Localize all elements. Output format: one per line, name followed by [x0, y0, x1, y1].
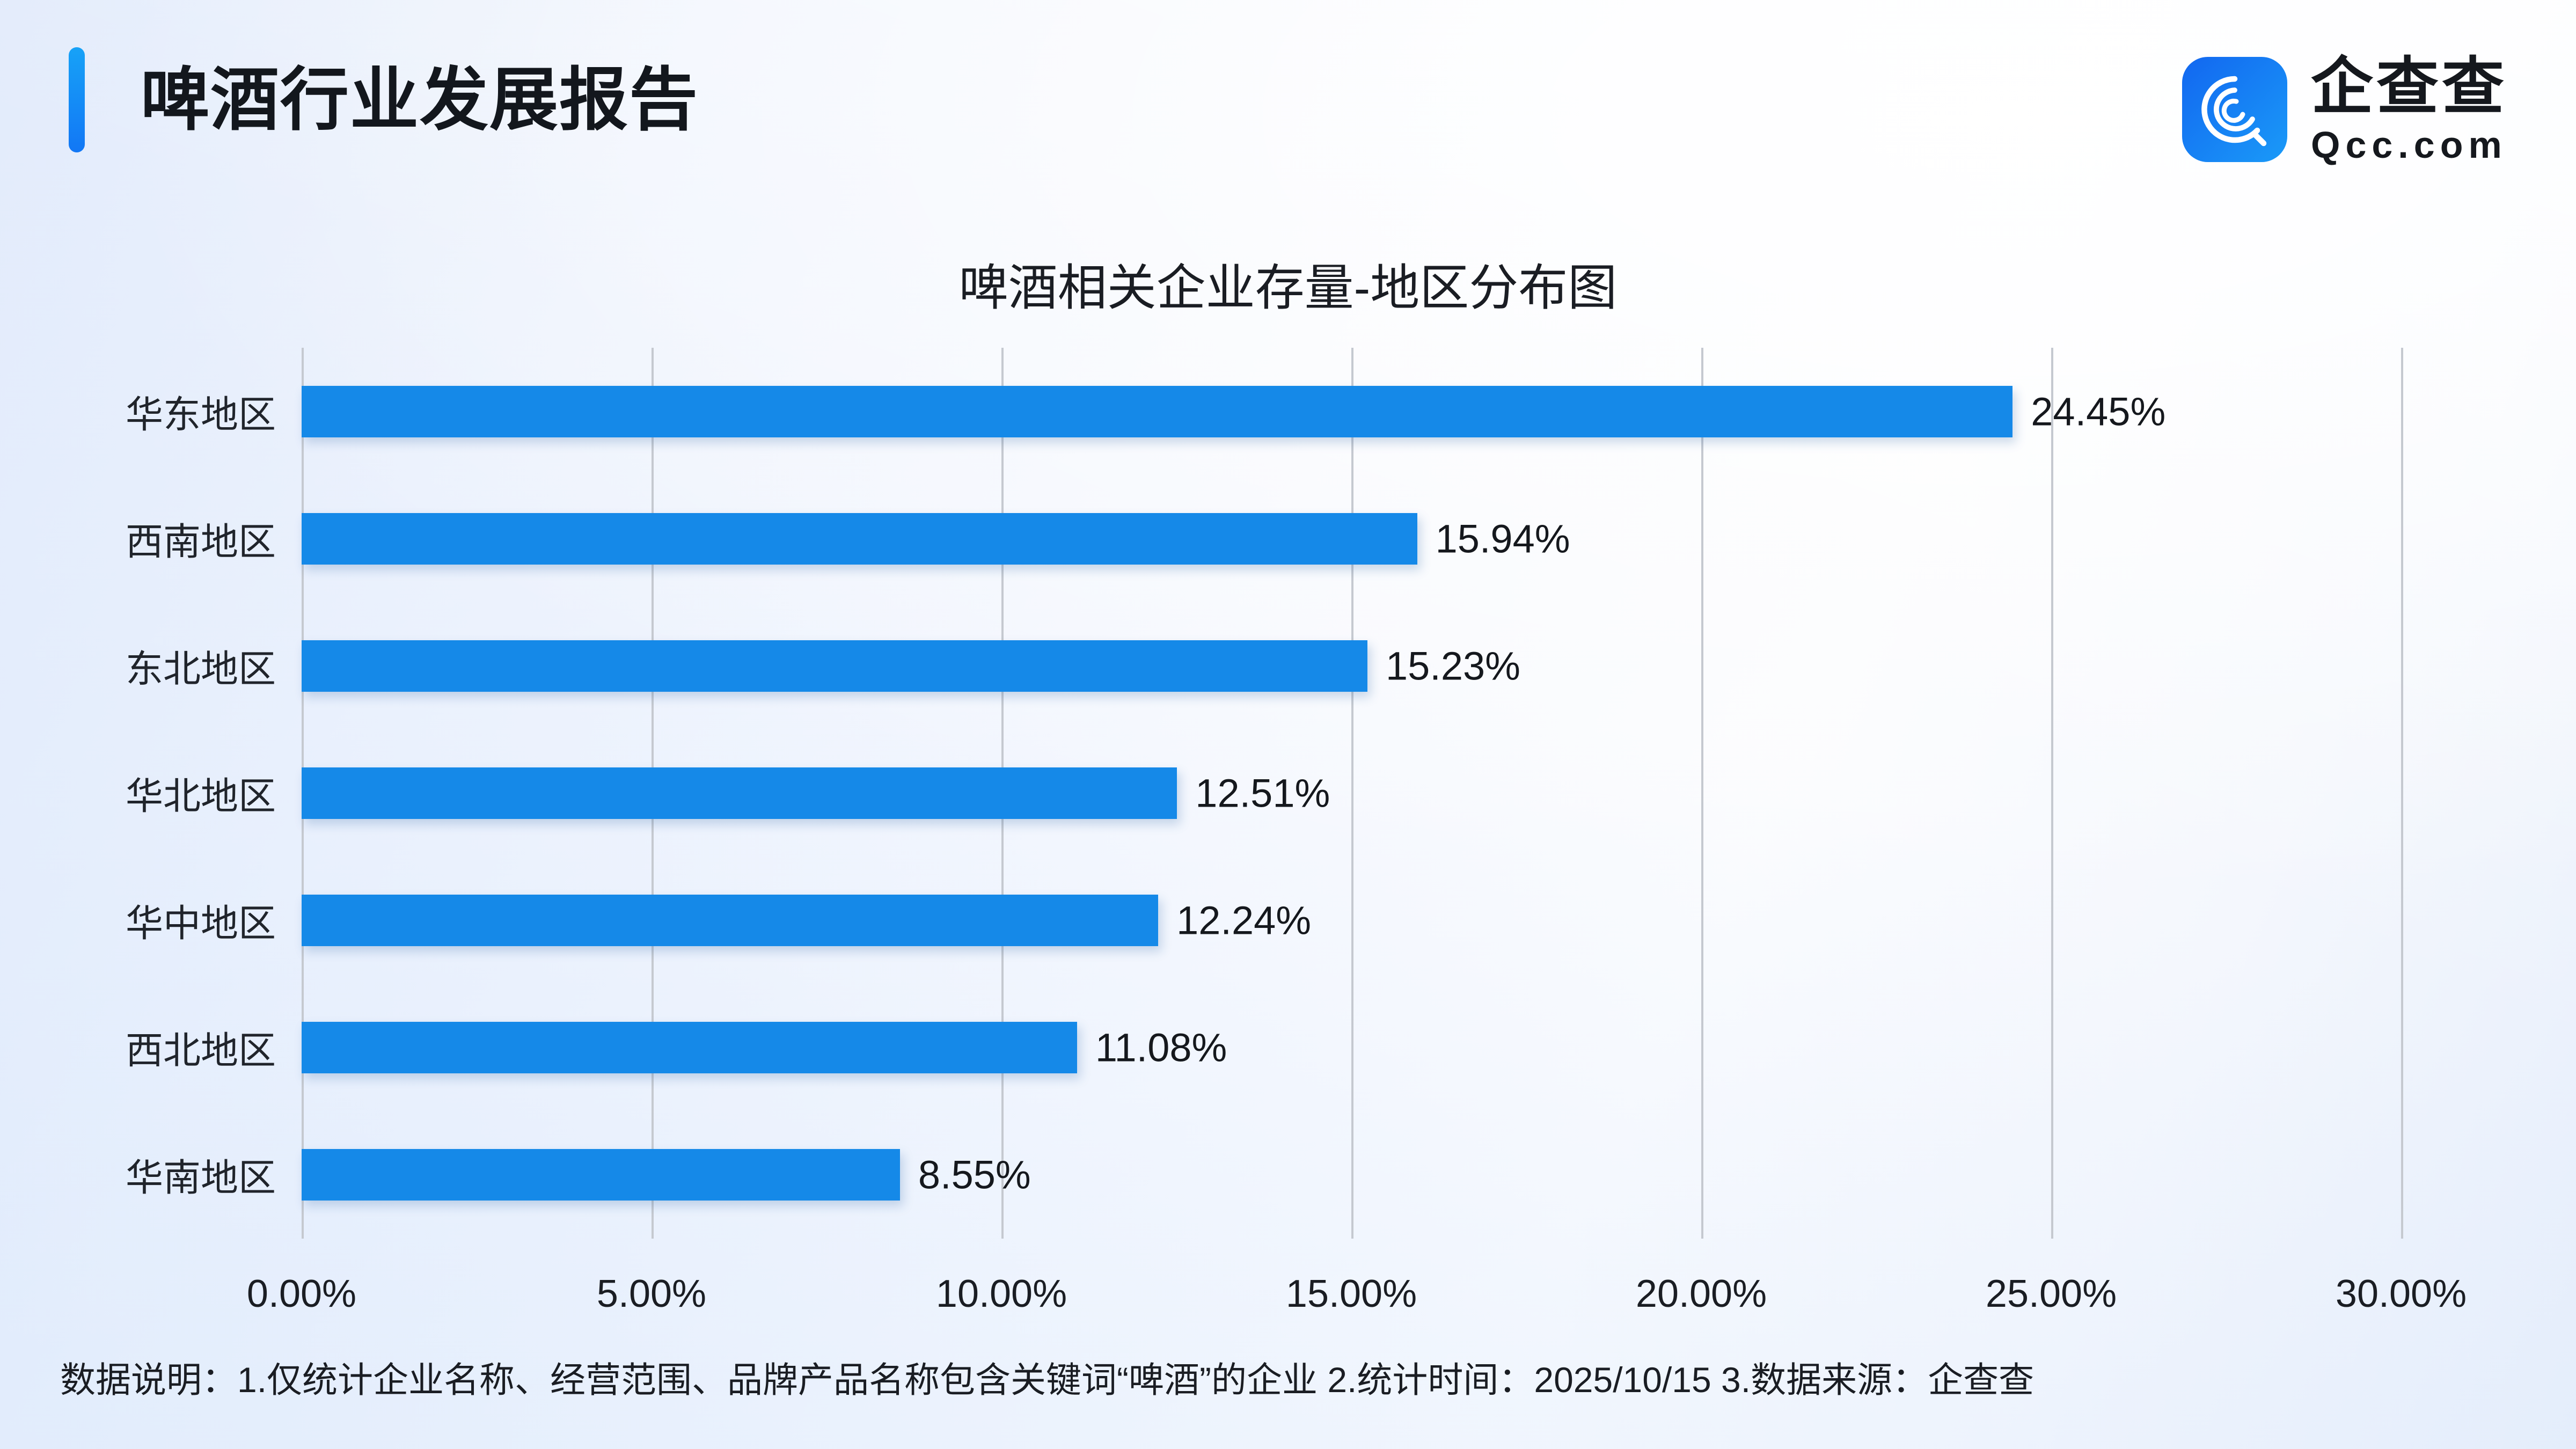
qcc-spiral-q-icon: [2182, 57, 2287, 162]
bar[interactable]: [302, 1149, 900, 1201]
chart-row: 华中地区12.24%: [302, 895, 2401, 946]
x-axis-tick-label: 20.00%: [1636, 1272, 1767, 1316]
y-axis-category-label: 西南地区: [126, 511, 276, 566]
page-title: 啤酒行业发展报告: [141, 49, 699, 151]
x-axis-tick-label: 5.00%: [597, 1272, 706, 1316]
x-axis-tick-label: 0.00%: [247, 1272, 356, 1316]
bar[interactable]: [302, 767, 1177, 819]
y-axis-category-label: 东北地区: [126, 639, 276, 693]
chart-row: 华北地区12.51%: [302, 767, 2401, 819]
y-axis-category-label: 华东地区: [126, 384, 276, 438]
bar[interactable]: [302, 513, 1417, 565]
chart-row: 西南地区15.94%: [302, 513, 2401, 565]
bar[interactable]: [302, 640, 1367, 692]
x-axis-tick-label: 10.00%: [936, 1272, 1067, 1316]
bar-value-label: 12.24%: [1176, 898, 1311, 943]
chart-row: 西北地区11.08%: [302, 1022, 2401, 1073]
bar-value-label: 12.51%: [1195, 771, 1330, 816]
qcc-logo[interactable]: 企查查 Qcc.com: [2182, 53, 2507, 166]
x-axis-tick-label: 15.00%: [1286, 1272, 1417, 1316]
logo-brand-cn: 企查查: [2311, 53, 2507, 120]
chart-title: 啤酒相关企业存量-地区分布图: [0, 248, 2576, 319]
logo-brand-en: Qcc.com: [2311, 123, 2507, 166]
gridline: [2401, 348, 2403, 1239]
chart-row: 东北地区15.23%: [302, 640, 2401, 692]
bar-value-label: 15.94%: [1436, 516, 1570, 561]
footer-note: 数据说明：1.仅统计企业名称、经营范围、品牌产品名称包含关键词“啤酒”的企业 2…: [60, 1351, 2034, 1403]
bar[interactable]: [302, 1022, 1077, 1073]
report-header: 啤酒行业发展报告 企查查 Qcc.com: [0, 0, 2576, 204]
x-axis-tick-label: 30.00%: [2336, 1272, 2467, 1316]
chart-row: 华南地区8.55%: [302, 1149, 2401, 1201]
title-accent-bar: [69, 47, 85, 152]
chart-plot-area: 华东地区24.45%西南地区15.94%东北地区15.23%华北地区12.51%…: [302, 348, 2401, 1239]
bar[interactable]: [302, 386, 2012, 437]
bar[interactable]: [302, 895, 1158, 946]
y-axis-category-label: 华中地区: [126, 894, 276, 948]
bar-value-label: 8.55%: [918, 1152, 1031, 1198]
chart-row: 华东地区24.45%: [302, 386, 2401, 437]
y-axis-category-label: 华南地区: [126, 1148, 276, 1202]
y-axis-category-label: 西北地区: [126, 1021, 276, 1075]
x-axis-tick-label: 25.00%: [1986, 1272, 2117, 1316]
bar-value-label: 15.23%: [1386, 643, 1520, 689]
bar-value-label: 24.45%: [2031, 389, 2165, 434]
bar-value-label: 11.08%: [1095, 1025, 1227, 1071]
y-axis-category-label: 华北地区: [126, 766, 276, 821]
